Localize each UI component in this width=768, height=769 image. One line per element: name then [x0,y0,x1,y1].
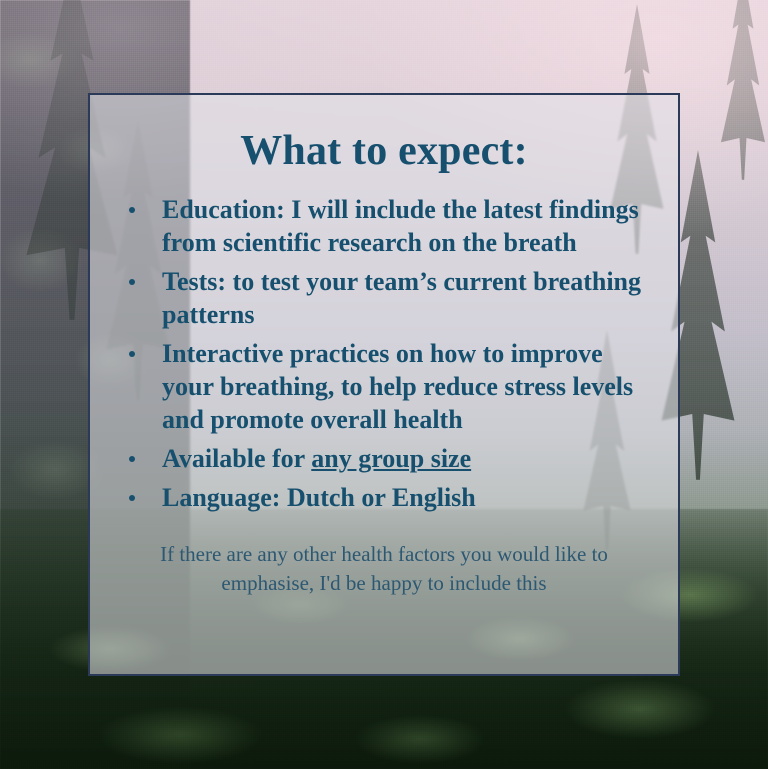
list-item: Available for any group size [116,442,652,475]
list-item-text: Tests: to test your team’s current breat… [162,267,641,329]
list-item-emphasis: any group size [311,444,471,473]
bullet-dot-icon [129,456,135,462]
bullet-dot-icon [129,351,135,357]
list-item-text: Interactive practices on how to improve … [162,339,633,434]
bullet-dot-icon [129,495,135,501]
content-panel: What to expect: Education: I will includ… [88,93,680,676]
list-item: Tests: to test your team’s current breat… [116,265,652,331]
bullet-list: Education: I will include the latest fin… [116,193,652,514]
slide-canvas: What to expect: Education: I will includ… [0,0,768,769]
list-item-text: Education: I will include the latest fin… [162,195,639,257]
page-title: What to expect: [116,129,652,173]
bullet-dot-icon [129,207,135,213]
list-item: Language: Dutch or English [116,481,652,514]
footer-note: If there are any other health factors yo… [116,540,652,597]
list-item: Interactive practices on how to improve … [116,337,652,436]
list-item-text: Language: Dutch or English [162,483,476,512]
list-item: Education: I will include the latest fin… [116,193,652,259]
list-item-text: Available for [162,444,311,473]
bullet-dot-icon [129,279,135,285]
